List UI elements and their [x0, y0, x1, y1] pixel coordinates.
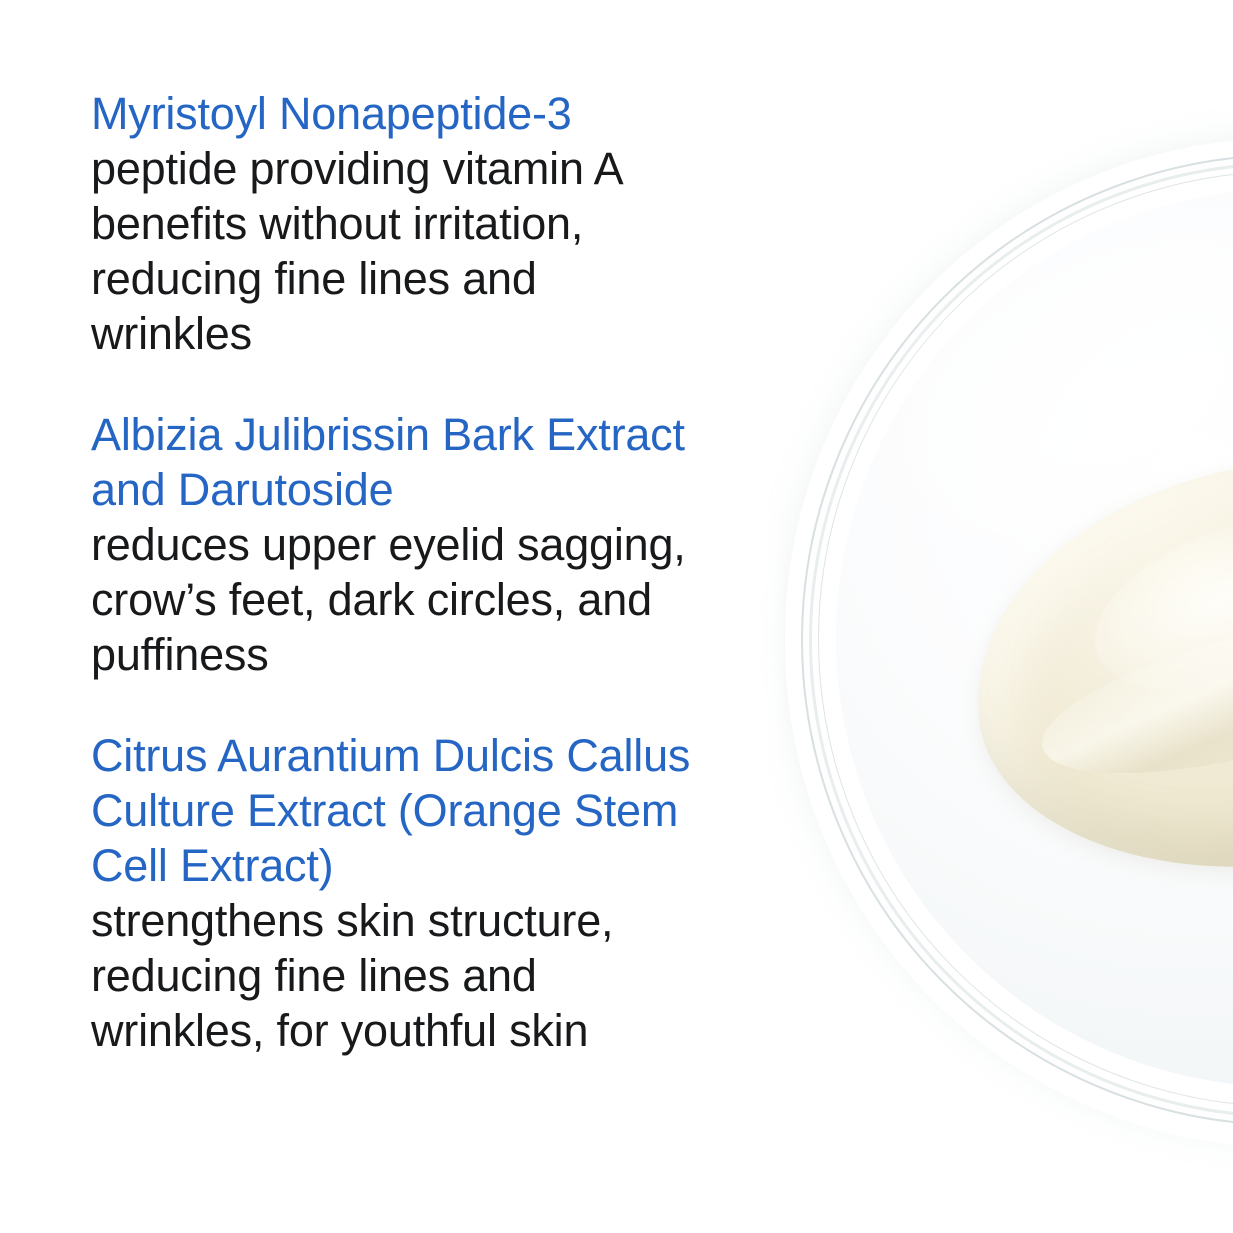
photo-left-fade [730, 76, 786, 1186]
ingredient-list: Myristoyl Nonapeptide-3 peptide providin… [91, 86, 706, 1058]
ingredient-description: reduces upper eyelid sagging, crow’s fee… [91, 517, 706, 682]
ingredient-name: Citrus Aurantium Dulcis Callus Culture E… [91, 728, 706, 893]
petri-dish-photo [740, 76, 1233, 1186]
ingredient-name: Albizia Julibrissin Bark Extract and Dar… [91, 407, 706, 517]
ingredient-item: Citrus Aurantium Dulcis Callus Culture E… [91, 728, 706, 1058]
ingredient-callout-graphic: Myristoyl Nonapeptide-3 peptide providin… [0, 0, 1233, 1233]
ingredient-description: peptide providing vitamin A benefits wit… [91, 141, 706, 361]
ingredient-description: strengthens skin structure, reducing fin… [91, 893, 706, 1058]
ingredient-name: Myristoyl Nonapeptide-3 [91, 86, 706, 141]
ingredient-item: Albizia Julibrissin Bark Extract and Dar… [91, 407, 706, 682]
ingredient-item: Myristoyl Nonapeptide-3 peptide providin… [91, 86, 706, 361]
